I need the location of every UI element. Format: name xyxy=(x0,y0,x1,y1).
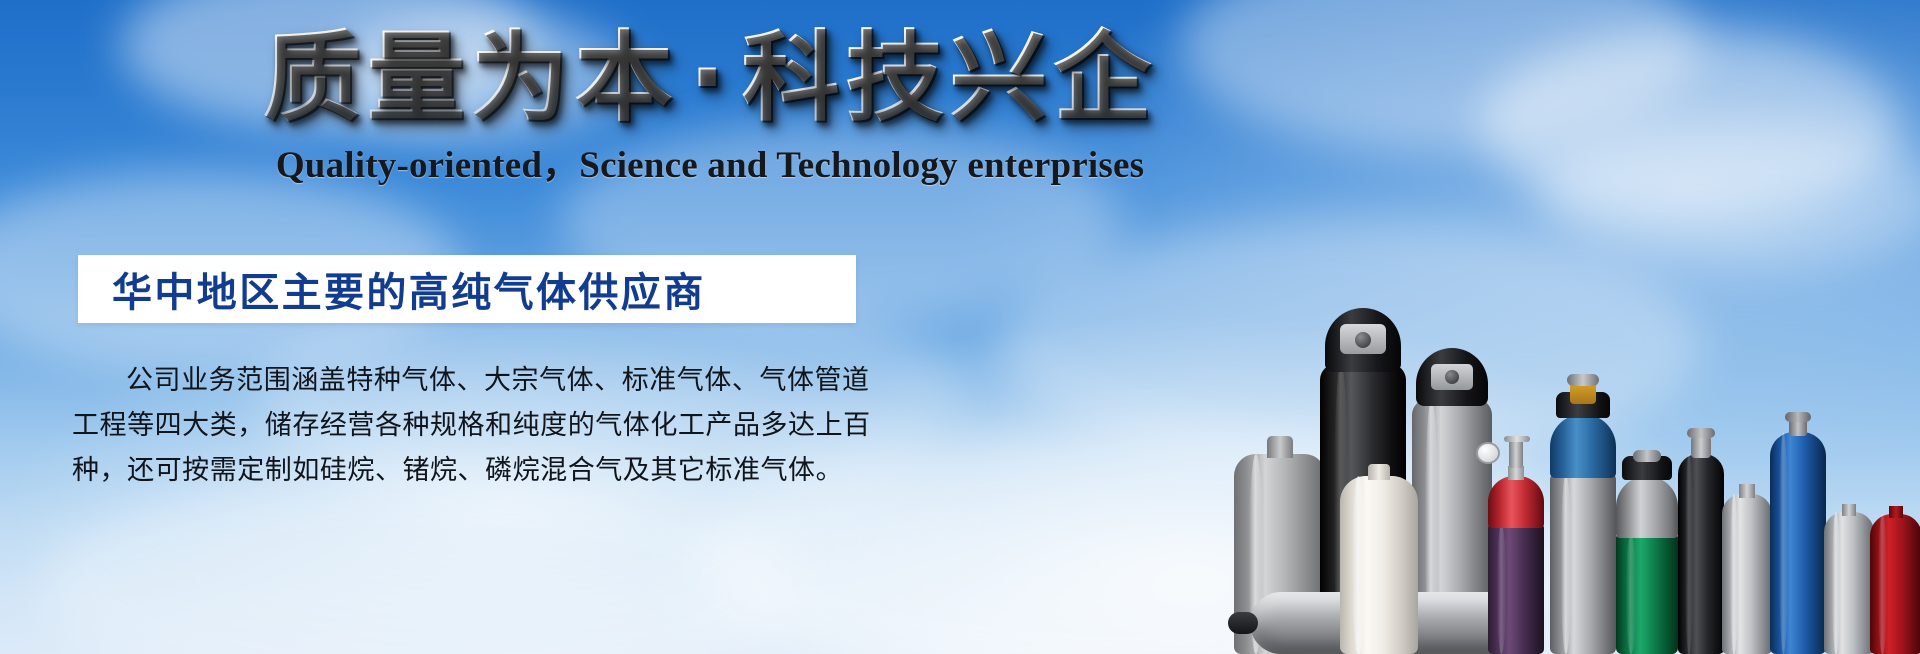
cylinder-highlight xyxy=(1626,534,1636,654)
cylinder-neck xyxy=(1508,466,1524,480)
cylinder-body xyxy=(1770,432,1826,654)
cloud-decoration xyxy=(40,470,800,654)
cylinder-body xyxy=(1824,512,1874,654)
cylinder-valve-knob xyxy=(1445,370,1459,384)
cylinder-highlight xyxy=(1779,432,1788,654)
cylinder-regulator xyxy=(1509,438,1523,468)
cylinder-highlight xyxy=(1832,512,1840,654)
description-paragraph: 公司业务范围涵盖特种气体、大宗气体、标准气体、气体管道 工程等四大类，储存经营各… xyxy=(72,358,872,493)
cylinder-valve-knob xyxy=(1355,332,1371,348)
valve-knob-icon xyxy=(1633,450,1661,462)
cylinder-body xyxy=(1340,476,1418,654)
description-line-2: 工程等四大类，储存经营各种规格和纯度的气体化工产品多达上百 xyxy=(72,403,872,448)
tank-valve-icon xyxy=(1228,612,1258,634)
highlight-strip: 华中地区主要的高纯气体供应商 xyxy=(78,255,856,323)
cloud-decoration xyxy=(1480,30,1900,220)
cylinder-neck xyxy=(1842,504,1856,516)
cylinder-neck xyxy=(1368,464,1390,480)
cylinder-highlight xyxy=(1352,476,1364,654)
cylinder-body xyxy=(1550,474,1616,654)
valve-knob-icon xyxy=(1785,412,1811,422)
black-slim-cylinder xyxy=(1678,426,1724,654)
aluminium-cylinder xyxy=(1722,482,1772,654)
description-line-3: 种，还可按需定制如硅烷、锗烷、磷烷混合气及其它标准气体。 xyxy=(72,448,872,493)
headline-separator: · xyxy=(678,21,741,135)
white-cylinder xyxy=(1340,464,1418,654)
green-cylinder xyxy=(1616,442,1678,654)
blue-cylinder xyxy=(1770,406,1826,654)
cylinder-shoulder xyxy=(1488,476,1544,528)
valve-knob-icon xyxy=(1687,428,1715,438)
headline-part-1: 质量为本 xyxy=(263,21,679,135)
red-purple-small-cylinder xyxy=(1488,436,1544,654)
dark-red-cylinder xyxy=(1870,504,1920,654)
cylinder-highlight xyxy=(1561,474,1572,654)
blue-silver-cylinder xyxy=(1550,364,1616,654)
cylinder-highlight xyxy=(1730,494,1738,654)
valve-knob-icon xyxy=(1567,374,1599,386)
headline-container: 质量为本·科技兴企 xyxy=(0,26,1420,132)
silver-short-cylinder xyxy=(1824,502,1874,654)
cylinder-highlight xyxy=(1685,454,1692,654)
hero-banner: 质量为本·科技兴企 Quality-oriented，Science and T… xyxy=(0,0,1920,654)
cylinder-body xyxy=(1616,534,1678,654)
cylinder-shoulder xyxy=(1616,476,1678,538)
cylinder-body xyxy=(1722,494,1772,654)
cylinder-highlight xyxy=(1878,514,1886,654)
cylinder-shoulder xyxy=(1550,414,1616,478)
cylinder-highlight xyxy=(1497,524,1506,654)
valve-handle-icon xyxy=(1504,436,1530,442)
cylinder-neck xyxy=(1739,484,1755,498)
headline-part-2: 科技兴企 xyxy=(742,21,1158,135)
gas-cylinders-group xyxy=(1220,224,1920,654)
page-subtitle: Quality-oriented，Science and Technology … xyxy=(0,134,1420,188)
pressure-gauge-icon xyxy=(1476,442,1500,464)
cylinder-valve xyxy=(1691,436,1711,458)
page-title: 质量为本·科技兴企 xyxy=(263,26,1157,132)
cylinder-body xyxy=(1678,454,1724,654)
description-line-1: 公司业务范围涵盖特种气体、大宗气体、标准气体、气体管道 xyxy=(72,358,872,403)
highlight-strip-text: 华中地区主要的高纯气体供应商 xyxy=(112,260,706,318)
cylinder-neck xyxy=(1889,506,1903,518)
cylinder-body xyxy=(1488,524,1544,654)
cylinder-body xyxy=(1870,514,1920,654)
cylinder-neck xyxy=(1267,436,1293,458)
